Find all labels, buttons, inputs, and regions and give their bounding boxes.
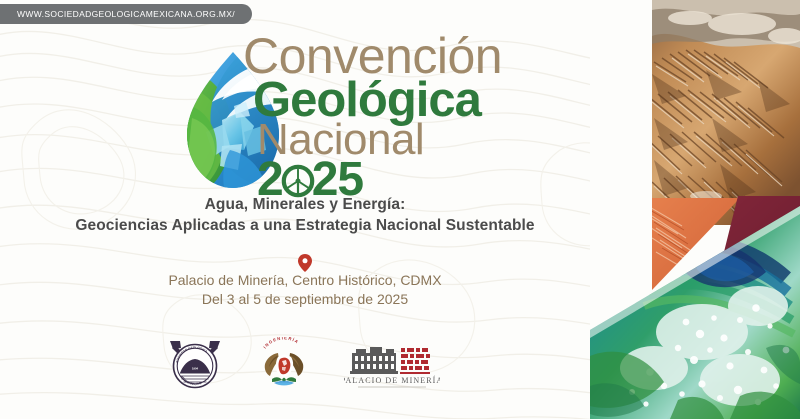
wind-turbine-icon bbox=[281, 164, 315, 198]
sponsor-logo-row: SOCIEDAD GEOLÓGICA MEXICANA, A.C. 1904 bbox=[0, 333, 605, 395]
location-pin-icon bbox=[298, 254, 312, 272]
venue-location: Palacio de Minería, Centro Histórico, CD… bbox=[0, 272, 610, 288]
subtitle-line-2: Geociencias Aplicadas a una Estrategia N… bbox=[0, 217, 610, 235]
venue-info: Palacio de Minería, Centro Histórico, CD… bbox=[0, 272, 610, 307]
svg-text:INGENIERÍA: INGENIERÍA bbox=[262, 337, 300, 349]
palacio-de-mineria-logo: PALACIO DE MINERÍA bbox=[344, 337, 440, 391]
sociedad-geologica-mexicana-logo: SOCIEDAD GEOLÓGICA MEXICANA, A.C. 1904 bbox=[166, 335, 224, 393]
website-url-banner[interactable]: WWW.SOCIEDADGEOLOGICAMEXICANA.ORG.MX/ bbox=[0, 4, 252, 24]
svg-text:1904: 1904 bbox=[191, 367, 198, 371]
photo-collage-panel bbox=[590, 0, 800, 419]
event-title-block: Convención Geológica Nacional 2 25 bbox=[195, 33, 525, 203]
event-subtitle: Agua, Minerales y Energía: Geociencias A… bbox=[0, 196, 610, 235]
unam-ingenieria-logo: INGENIERÍA bbox=[258, 337, 310, 391]
website-url-text: WWW.SOCIEDADGEOLOGICAMEXICANA.ORG.MX/ bbox=[17, 9, 235, 19]
poster-canvas: WWW.SOCIEDADGEOLOGICAMEXICANA.ORG.MX/ bbox=[0, 0, 800, 419]
svg-text:PALACIO DE MINERÍA: PALACIO DE MINERÍA bbox=[344, 375, 440, 385]
venue-dates: Del 3 al 5 de septiembre de 2025 bbox=[0, 291, 610, 307]
subtitle-line-1: Agua, Minerales y Energía: bbox=[0, 196, 610, 214]
